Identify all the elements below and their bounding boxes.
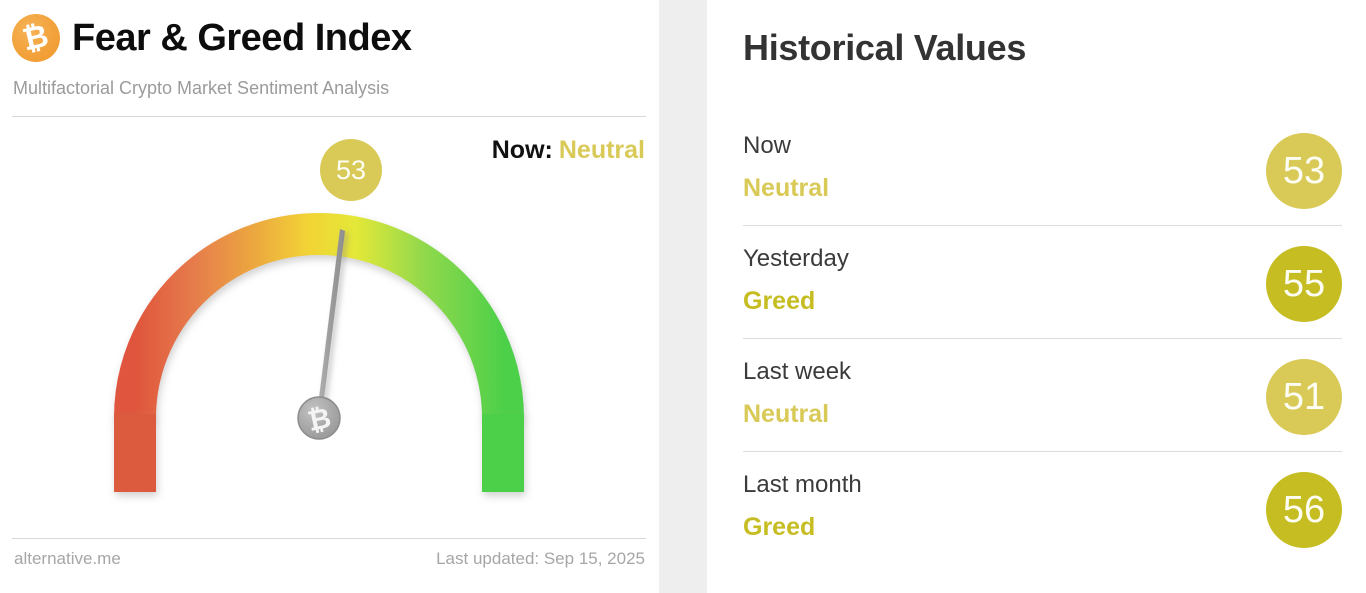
- historical-title: Historical Values: [743, 30, 1026, 66]
- row-value-text: 55: [1283, 265, 1325, 303]
- list-item[interactable]: Last week Neutral 51: [743, 339, 1342, 452]
- fear-greed-widget: ₿ Fear & Greed Index Multifactorial Cryp…: [0, 0, 1366, 593]
- row-classification: Greed: [743, 513, 815, 542]
- row-period: Last month: [743, 471, 862, 499]
- row-value-badge: 55: [1266, 246, 1342, 322]
- row-value-text: 51: [1283, 378, 1325, 416]
- gauge-svg: ₿: [0, 0, 659, 520]
- list-item[interactable]: Last month Greed 56: [743, 452, 1342, 565]
- row-value-text: 53: [1283, 152, 1325, 190]
- gauge-arc: [114, 234, 503, 492]
- row-value-badge: 51: [1266, 359, 1342, 435]
- historical-panel: Historical Values Now Neutral 53 Yesterd…: [707, 0, 1366, 593]
- row-value-badge: 56: [1266, 472, 1342, 548]
- footer-source[interactable]: alternative.me: [14, 549, 121, 569]
- gauge-hub: ₿: [298, 397, 340, 439]
- row-period: Now: [743, 132, 791, 160]
- historical-list: Now Neutral 53 Yesterday Greed 55 Last w…: [743, 113, 1342, 565]
- row-classification: Neutral: [743, 400, 829, 429]
- row-period: Yesterday: [743, 245, 849, 273]
- row-classification: Greed: [743, 287, 815, 316]
- list-item[interactable]: Now Neutral 53: [743, 113, 1342, 226]
- gauge-needle: [317, 229, 346, 418]
- row-period: Last week: [743, 358, 851, 386]
- list-item[interactable]: Yesterday Greed 55: [743, 226, 1342, 339]
- footer-updated: Last updated: Sep 15, 2025: [436, 549, 645, 569]
- footer-divider: [12, 538, 646, 539]
- row-value-text: 56: [1283, 491, 1325, 529]
- row-value-badge: 53: [1266, 133, 1342, 209]
- gauge-chart: ₿: [0, 0, 659, 520]
- gauge-panel: ₿ Fear & Greed Index Multifactorial Cryp…: [0, 0, 659, 593]
- row-classification: Neutral: [743, 174, 829, 203]
